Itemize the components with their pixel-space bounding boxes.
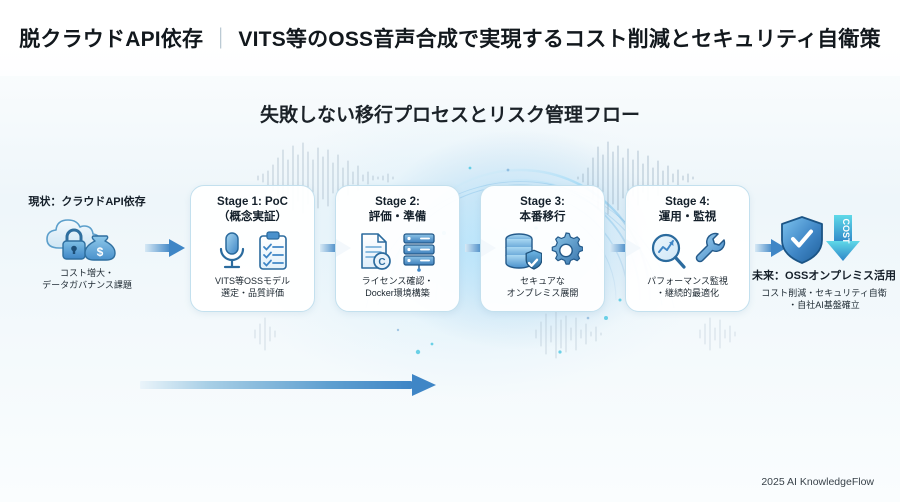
arrow-right-icon bbox=[145, 237, 187, 259]
cost-arrow-label: COST bbox=[841, 218, 851, 244]
stage-2-caption: ライセンス確認・ Docker環境構築 bbox=[362, 276, 434, 300]
stage-1-title: Stage 1: PoC （概念実証） bbox=[217, 195, 288, 224]
stage-2-title: Stage 2: 評価・準備 bbox=[369, 195, 427, 224]
svg-text:$: $ bbox=[97, 245, 104, 259]
bottom-progress-arrow bbox=[140, 374, 436, 396]
stage-card-2[interactable]: Stage 2: 評価・準備 C bbox=[335, 185, 460, 312]
current-state-caption: コスト増大・ データガバナンス課題 bbox=[12, 267, 162, 291]
database-shield-icon bbox=[502, 230, 542, 272]
future-state-icons: COST bbox=[748, 211, 900, 267]
stage-1-title-line1: Stage 1: PoC bbox=[217, 195, 288, 210]
microphone-icon bbox=[215, 230, 249, 272]
document-copyright-icon: C bbox=[357, 230, 393, 272]
clipboard-check-icon bbox=[256, 230, 290, 272]
svg-text:C: C bbox=[378, 257, 385, 268]
gear-icon bbox=[549, 230, 583, 272]
footer-credit: 2025 AI KnowledgeFlow bbox=[761, 476, 874, 488]
stage-4-title-line2: 運用・監視 bbox=[659, 210, 717, 225]
stage-1-caption-line1: VITS等OSSモデル bbox=[215, 276, 290, 288]
stage-2-caption-line1: ライセンス確認・ bbox=[362, 276, 434, 288]
stage-1-caption-line2: 選定・品質評価 bbox=[215, 288, 290, 300]
stage-4-caption-line2: ・継続的最適化 bbox=[647, 288, 728, 300]
future-state-caption-line1: コスト削減・セキュリティ自衛 bbox=[748, 287, 900, 299]
title-divider: ｜ bbox=[203, 28, 238, 51]
stage-3-caption-line1: セキュアな bbox=[507, 276, 579, 288]
stage-2-title-line1: Stage 2: bbox=[369, 195, 427, 210]
current-state-caption-line1: コスト増大・ bbox=[12, 267, 162, 279]
infographic-root: 脱クラウドAPI依存｜VITS等のOSS音声合成で実現するコスト削減とセキュリテ… bbox=[0, 0, 900, 502]
stage-card-1[interactable]: Stage 1: PoC （概念実証） bbox=[190, 185, 315, 312]
stage-1-icons bbox=[215, 228, 290, 273]
wrench-icon bbox=[694, 230, 726, 272]
current-state-caption-line2: データガバナンス課題 bbox=[12, 279, 162, 291]
shield-cost-icon-group: COST bbox=[776, 211, 872, 267]
stage-2-icons: C bbox=[357, 228, 438, 273]
stage-4-icons bbox=[649, 228, 726, 273]
shield-check-icon bbox=[782, 217, 822, 263]
stage-3-title-line2: 本番移行 bbox=[520, 210, 566, 225]
current-state-block: 現状：クラウドAPI依存 bbox=[12, 193, 162, 291]
stage-3-caption-line2: オンプレミス展開 bbox=[507, 288, 579, 300]
stage-3-title-line1: Stage 3: bbox=[520, 195, 566, 210]
stage-2-caption-line2: Docker環境構築 bbox=[362, 288, 434, 300]
page-title: 脱クラウドAPI依存｜VITS等のOSS音声合成で実現するコスト削減とセキュリテ… bbox=[19, 23, 881, 53]
current-state-label: 現状：クラウドAPI依存 bbox=[12, 193, 162, 209]
future-state-caption: コスト削減・セキュリティ自衛 ・自社AI基盤確立 bbox=[748, 287, 900, 311]
future-state-label: 未来：OSSオンプレミス活用 bbox=[748, 267, 900, 283]
cost-down-arrow-icon: COST bbox=[826, 215, 860, 261]
stage-3-icons bbox=[502, 228, 583, 273]
flow-arrow-0 bbox=[145, 237, 187, 264]
stage-3-title: Stage 3: 本番移行 bbox=[520, 195, 566, 224]
page-title-right: VITS等のOSS音声合成で実現するコスト削減とセキュリティ自衛策 bbox=[238, 28, 880, 51]
stage-card-4[interactable]: Stage 4: 運用・監視 パフ bbox=[625, 185, 750, 312]
current-state-icons: $ bbox=[12, 209, 162, 267]
page-header: 脱クラウドAPI依存｜VITS等のOSS音声合成で実現するコスト削減とセキュリテ… bbox=[0, 0, 900, 76]
stage-3-caption: セキュアな オンプレミス展開 bbox=[507, 276, 579, 300]
stage-2-title-line2: 評価・準備 bbox=[369, 210, 427, 225]
stage-1-caption: VITS等OSSモデル 選定・品質評価 bbox=[215, 276, 290, 300]
stage-1-title-line2: （概念実証） bbox=[217, 210, 288, 225]
page-subtitle: 失敗しない移行プロセスとリスク管理フロー bbox=[0, 100, 900, 127]
future-state-block: COST 未来：OSSオンプレミス活用 コスト削減・セキュリティ自衛 ・自社AI… bbox=[748, 211, 900, 311]
server-rack-icon bbox=[400, 230, 438, 272]
stage-card-3[interactable]: Stage 3: 本番移行 bbox=[480, 185, 605, 312]
process-flow: 現状：クラウドAPI依存 bbox=[0, 185, 900, 335]
stage-4-caption: パフォーマンス監視 ・継続的最適化 bbox=[647, 276, 728, 300]
future-state-caption-line2: ・自社AI基盤確立 bbox=[748, 299, 900, 311]
page-title-left: 脱クラウドAPI依存 bbox=[19, 28, 203, 51]
cloud-lock-money-icon-group: $ bbox=[33, 210, 141, 266]
magnifier-chart-icon bbox=[649, 230, 687, 272]
stage-4-title: Stage 4: 運用・監視 bbox=[659, 195, 717, 224]
stage-4-caption-line1: パフォーマンス監視 bbox=[647, 276, 728, 288]
stage-4-title-line1: Stage 4: bbox=[659, 195, 717, 210]
